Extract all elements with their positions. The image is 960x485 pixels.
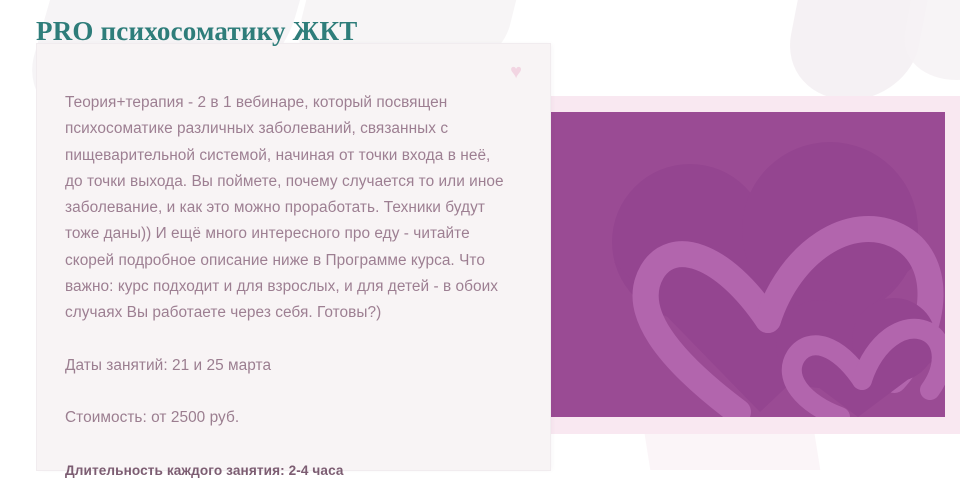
heart-icon[interactable]: ♥ xyxy=(505,61,527,83)
card-body: Теория+терапия - 2 в 1 вебинаре, который… xyxy=(65,90,506,485)
course-intro-paragraph: Теория+терапия - 2 в 1 вебинаре, который… xyxy=(65,90,506,327)
page-title: PRO психосоматику ЖКТ xyxy=(36,14,358,48)
course-description-card: ♥ Теория+терапия - 2 в 1 вебинаре, котор… xyxy=(37,44,550,470)
course-dates-line: Даты занятий: 21 и 25 марта xyxy=(65,353,506,379)
heart-graphic xyxy=(490,112,945,417)
hero-image xyxy=(490,112,945,417)
course-price-line: Стоимость: от 2500 руб. xyxy=(65,405,506,431)
course-duration-line: Длительность каждого занятия: 2-4 часа xyxy=(65,458,506,484)
